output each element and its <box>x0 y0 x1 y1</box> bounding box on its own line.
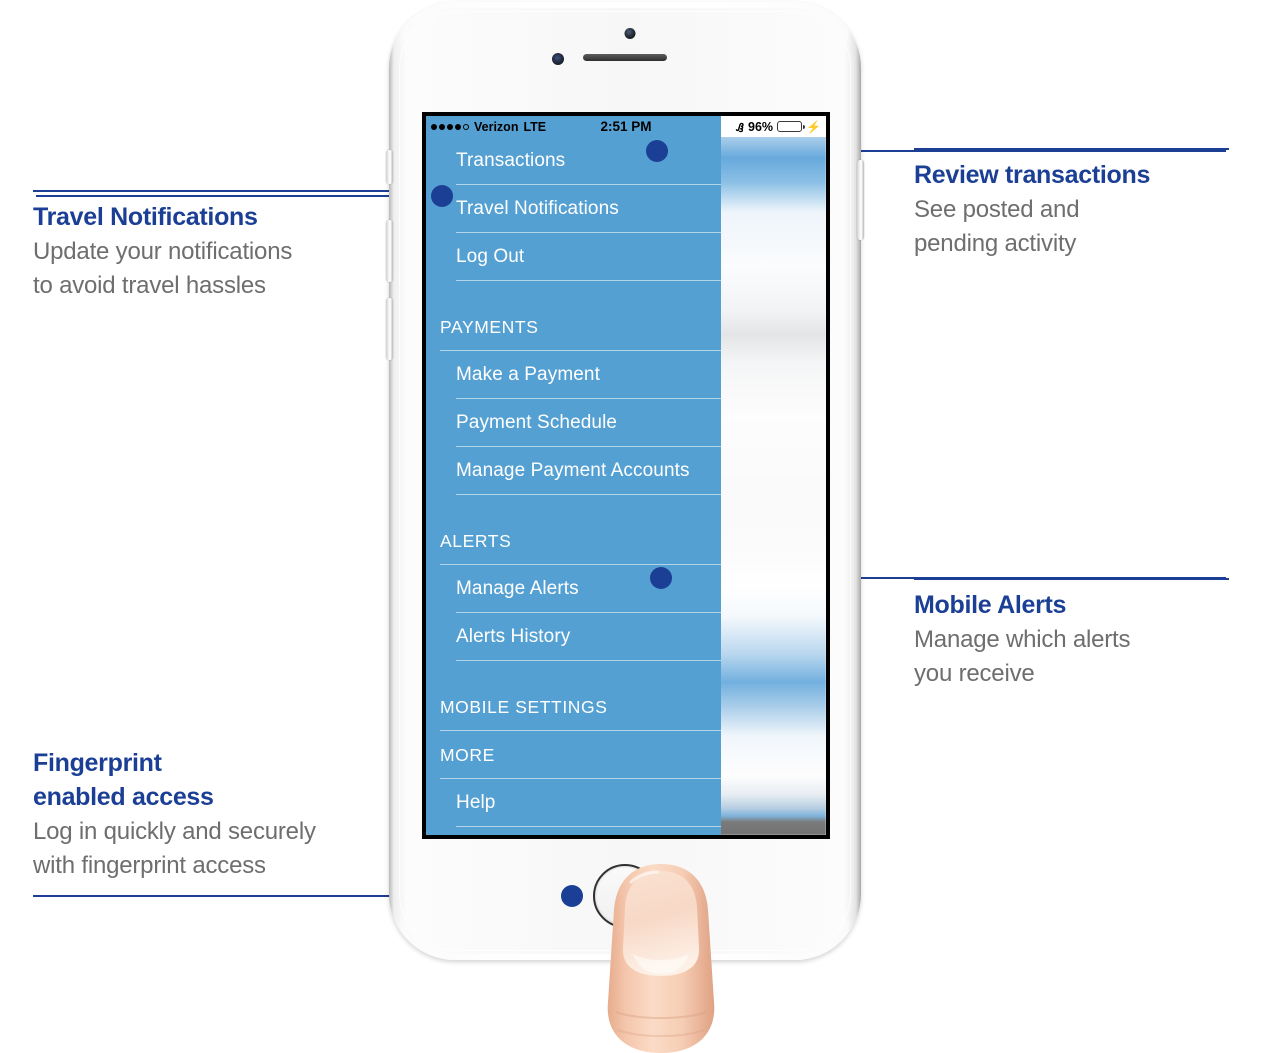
leader-dot-travel-notifications <box>431 185 453 207</box>
front-camera-icon <box>624 28 635 39</box>
menu-item-alerts-history[interactable]: Alerts History <box>426 613 721 661</box>
leader-dot-mobile-alerts <box>650 567 672 589</box>
menu-item-label: Travel Notifications <box>456 198 619 220</box>
menu-separator <box>456 826 721 827</box>
side-navigation-menu[interactable]: TransactionsTravel NotificationsLog OutP… <box>426 116 721 835</box>
menu-section-header-alerts: ALERTS <box>426 517 721 565</box>
menu-separator <box>456 660 721 661</box>
volume-up-button[interactable] <box>386 220 393 282</box>
callout-rule <box>33 190 433 192</box>
volume-down-button[interactable] <box>386 298 393 360</box>
menu-item-payment-schedule[interactable]: Payment Schedule <box>426 399 721 447</box>
menu-item-manage-alerts[interactable]: Manage Alerts <box>426 565 721 613</box>
callout-title: Fingerprint enabled access <box>33 746 433 814</box>
menu-section-label: MORE <box>440 744 495 766</box>
callout-review-transactions: Review transactions See posted and pendi… <box>914 148 1229 261</box>
callout-title: Mobile Alerts <box>914 588 1229 622</box>
menu-section-label: PAYMENTS <box>440 316 538 338</box>
menu-scroll-container[interactable]: TransactionsTravel NotificationsLog OutP… <box>426 137 721 827</box>
leader-dot-review-transactions <box>646 140 668 162</box>
callout-body: See posted and pending activity <box>914 193 1229 261</box>
menu-item-help[interactable]: Help <box>426 779 721 827</box>
menu-section-label: ALERTS <box>440 530 511 552</box>
status-bar-background-content <box>721 116 826 137</box>
menu-item-label: Manage Alerts <box>456 578 579 600</box>
power-button[interactable] <box>857 160 864 240</box>
callout-body: Update your notifications to avoid trave… <box>33 235 433 303</box>
callout-body: Manage which alerts you receive <box>914 623 1229 691</box>
menu-item-make-a-payment[interactable]: Make a Payment <box>426 351 721 399</box>
status-bar-background-menu <box>426 116 721 137</box>
phone-screen: Verizon LTE 2:51 PM ᜟ 96% ⚡ Transactions… <box>422 112 830 839</box>
menu-item-label: Make a Payment <box>456 364 600 386</box>
menu-item-travel-notifications[interactable]: Travel Notifications <box>426 185 721 233</box>
menu-section-gap <box>426 281 721 303</box>
menu-item-label: Transactions <box>456 150 565 172</box>
menu-item-manage-payment-accounts[interactable]: Manage Payment Accounts <box>426 447 721 495</box>
callout-fingerprint-access: Fingerprint enabled access Log in quickl… <box>33 738 433 883</box>
callout-travel-notifications: Travel Notifications Update your notific… <box>33 190 433 303</box>
callout-mobile-alerts: Mobile Alerts Manage which alerts you re… <box>914 578 1229 691</box>
proximity-sensor-icon <box>552 53 564 65</box>
menu-separator <box>456 280 721 281</box>
menu-item-label: Log Out <box>456 246 524 268</box>
menu-section-label: MOBILE SETTINGS <box>440 696 608 718</box>
menu-section-header-more: MORE <box>426 731 721 779</box>
mute-switch[interactable] <box>386 150 393 184</box>
iphone-device: Verizon LTE 2:51 PM ᜟ 96% ⚡ Transactions… <box>389 2 861 960</box>
menu-section-gap <box>426 661 721 683</box>
menu-section-gap <box>426 495 721 517</box>
menu-separator <box>456 494 721 495</box>
menu-item-log-out[interactable]: Log Out <box>426 233 721 281</box>
menu-item-label: Alerts History <box>456 626 570 648</box>
menu-section-header-mobile-settings: MOBILE SETTINGS <box>426 683 721 731</box>
finger-touching-home-button <box>598 862 724 1053</box>
menu-item-label: Manage Payment Accounts <box>456 460 690 482</box>
leader-dot-fingerprint <box>561 885 583 907</box>
earpiece-speaker <box>583 54 667 61</box>
callout-title: Travel Notifications <box>33 200 433 234</box>
menu-item-label: Payment Schedule <box>456 412 617 434</box>
menu-section-header-payments: PAYMENTS <box>426 303 721 351</box>
callout-body: Log in quickly and securely with fingerp… <box>33 815 433 883</box>
menu-item-label: Help <box>456 792 495 814</box>
menu-item-transactions[interactable]: Transactions <box>426 137 721 185</box>
callout-title: Review transactions <box>914 158 1229 192</box>
leader-line-travel-notifications <box>36 195 438 197</box>
